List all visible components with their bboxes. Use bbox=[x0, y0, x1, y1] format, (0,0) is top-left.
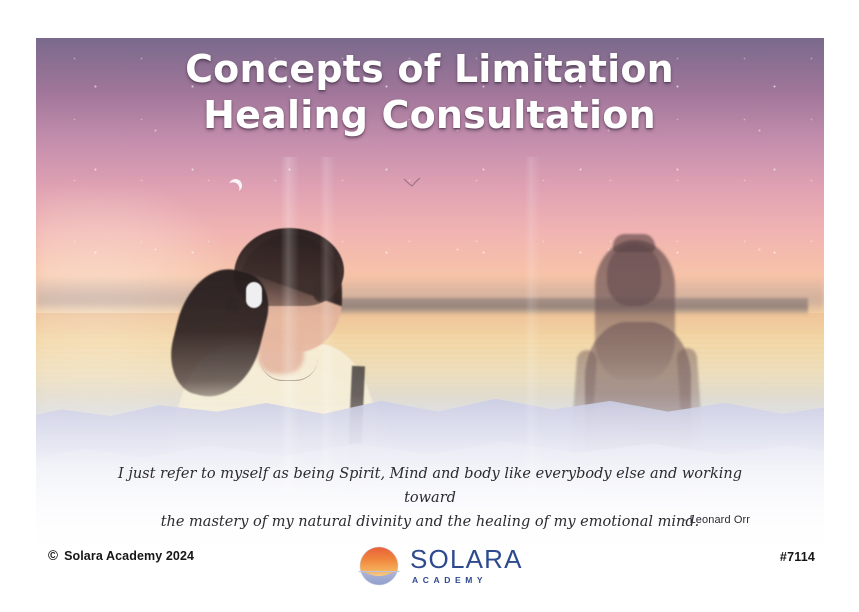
bird-silhouette-icon bbox=[403, 178, 421, 189]
logo-wordmark: SOLARA ACADEMY bbox=[410, 546, 523, 587]
copyright-notice: © Solara Academy 2024 bbox=[48, 549, 194, 563]
solara-academy-logo: SOLARA ACADEMY bbox=[355, 542, 523, 590]
sun-wave-logo-icon bbox=[355, 542, 403, 590]
quote-line-1: I just refer to myself as being Spirit, … bbox=[110, 462, 750, 510]
copyright-text: Solara Academy 2024 bbox=[64, 549, 194, 563]
silhouette-hair-bun bbox=[613, 234, 655, 252]
presentation-slide: Concepts of Limitation Healing Consultat… bbox=[0, 0, 859, 612]
logo-tagline: ACADEMY bbox=[412, 576, 523, 585]
quote-attribution: - Leonard Orr bbox=[430, 514, 750, 526]
page-number: #7114 bbox=[780, 550, 815, 564]
logo-name: SOLARA bbox=[410, 546, 523, 572]
copyright-icon: © bbox=[48, 549, 58, 563]
figure-hair-tie bbox=[246, 282, 262, 308]
slide-footer: © Solara Academy 2024 bbox=[0, 540, 859, 584]
silhouette-head bbox=[607, 244, 661, 306]
figure-ear bbox=[314, 282, 327, 302]
